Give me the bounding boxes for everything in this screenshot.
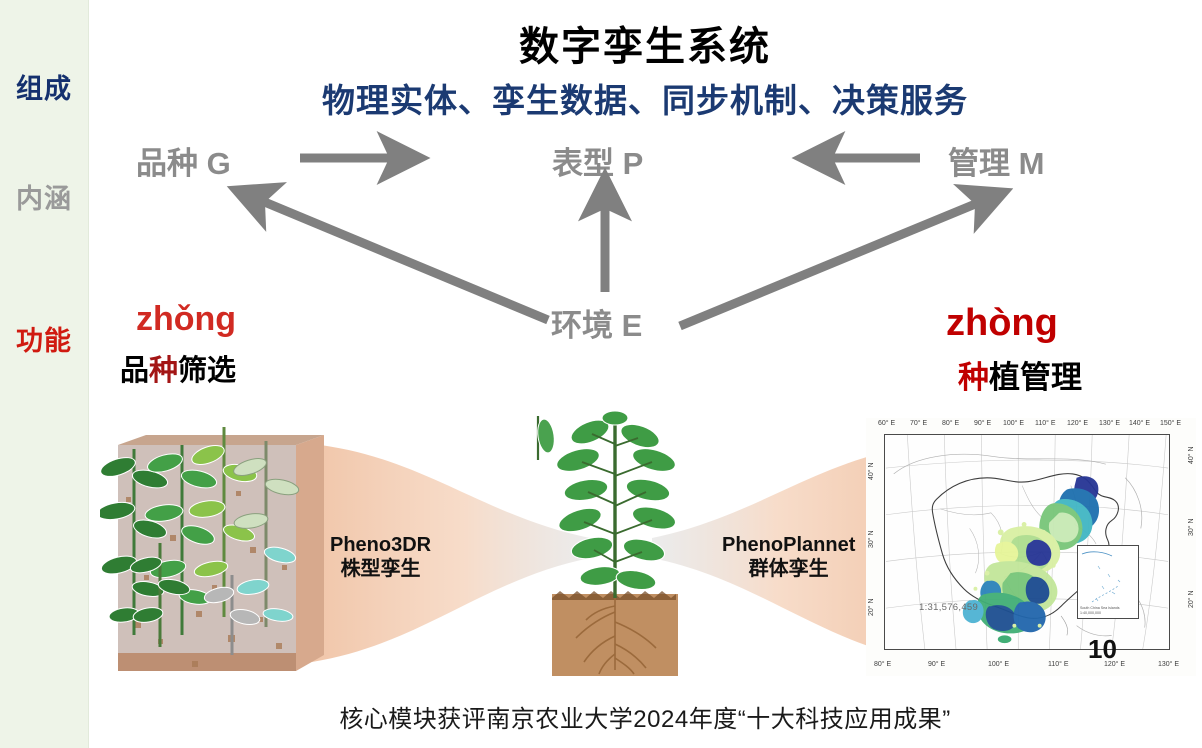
soybean-plant-illustration: [508, 398, 718, 678]
map-tick-top-6: 120° E: [1067, 420, 1088, 427]
map-scale-label: 1:31,576,459: [919, 602, 978, 613]
map-tick-top-4: 100° E: [1003, 420, 1024, 427]
module-right-cn: 群体孪生: [722, 557, 855, 581]
label-planting-management-highlight: 种: [958, 360, 989, 395]
map-tick-top-7: 130° E: [1099, 420, 1120, 427]
slide-canvas: 组成 内涵 功能 数字孪生系统 物理实体、孪生数据、同步机制、决策服务 品种 G…: [0, 0, 1202, 748]
label-planting-management: 种植管理: [958, 352, 1082, 397]
label-planting-management-suffix: 植管理: [989, 360, 1082, 395]
map-tick-right-0: 40° N: [1188, 446, 1195, 464]
rail-label-function: 功能: [0, 328, 88, 355]
map-tick-bottom-5: 130° E: [1158, 661, 1179, 668]
map-inset-south-china-sea: South China Sea Islands 1:40,000,000: [1077, 545, 1139, 619]
page-subtitle: 物理实体、孪生数据、同步机制、决策服务: [88, 74, 1202, 122]
map-tick-top-0: 60° E: [878, 420, 895, 427]
arrow-e-to-g: [255, 198, 548, 320]
map-tick-left-0: 40° N: [868, 462, 875, 480]
node-environment: 环境 E: [551, 300, 642, 345]
pinyin-zhong-planting: zhòng: [946, 302, 1058, 345]
module-label-pheno3dr: Pheno3DR 株型孪生: [330, 533, 431, 582]
map-tick-right-2: 20° N: [1188, 590, 1195, 608]
left-rail: [0, 0, 89, 748]
map-tick-bottom-2: 100° E: [988, 661, 1009, 668]
map-tick-left-1: 30° N: [868, 530, 875, 548]
label-variety-selection-suffix: 筛选: [178, 355, 236, 387]
module-label-phenoplannet: PhenoPlannet 群体孪生: [722, 533, 855, 582]
module-left-cn: 株型孪生: [330, 557, 431, 581]
node-phenotype: 表型 P: [552, 138, 643, 183]
map-frame: South China Sea Islands 1:40,000,000 1:3…: [884, 434, 1170, 650]
label-variety-selection: 品种筛选: [120, 347, 236, 389]
module-left-name: Pheno3DR: [330, 533, 431, 557]
slide-number: 10: [1088, 634, 1117, 665]
map-tick-top-2: 80° E: [942, 420, 959, 427]
page-title: 数字孪生系统: [88, 14, 1202, 72]
node-genotype: 品种 G: [136, 138, 231, 183]
pinyin-zhong-selection: zhǒng: [136, 300, 236, 339]
node-management: 管理 M: [948, 138, 1044, 183]
china-soybean-distribution-map: South China Sea Islands 1:40,000,000 1:3…: [866, 418, 1196, 676]
label-variety-selection-prefix: 品: [120, 355, 149, 387]
map-tick-left-2: 20° N: [868, 598, 875, 616]
map-tick-bottom-1: 90° E: [928, 661, 945, 668]
arrow-e-to-m: [680, 200, 985, 326]
map-tick-top-3: 90° E: [974, 420, 991, 427]
map-tick-top-9: 150° E: [1160, 420, 1181, 427]
map-tick-bottom-3: 110° E: [1048, 661, 1069, 668]
rail-label-connotation: 内涵: [0, 186, 88, 213]
map-inset-caption: South China Sea Islands 1:40,000,000: [1080, 606, 1138, 615]
map-tick-top-8: 140° E: [1129, 420, 1150, 427]
map-tick-right-1: 30° N: [1188, 518, 1195, 536]
map-tick-top-1: 70° E: [910, 420, 927, 427]
map-tick-bottom-0: 80° E: [874, 661, 891, 668]
label-variety-selection-highlight: 种: [149, 355, 178, 387]
module-right-name: PhenoPlannet: [722, 533, 855, 557]
rail-label-composition: 组成: [0, 76, 88, 103]
plant-population-box: [100, 425, 332, 675]
footer-caption: 核心模块获评南京农业大学2024年度“十大科技应用成果”: [88, 699, 1202, 734]
map-tick-top-5: 110° E: [1035, 420, 1056, 427]
